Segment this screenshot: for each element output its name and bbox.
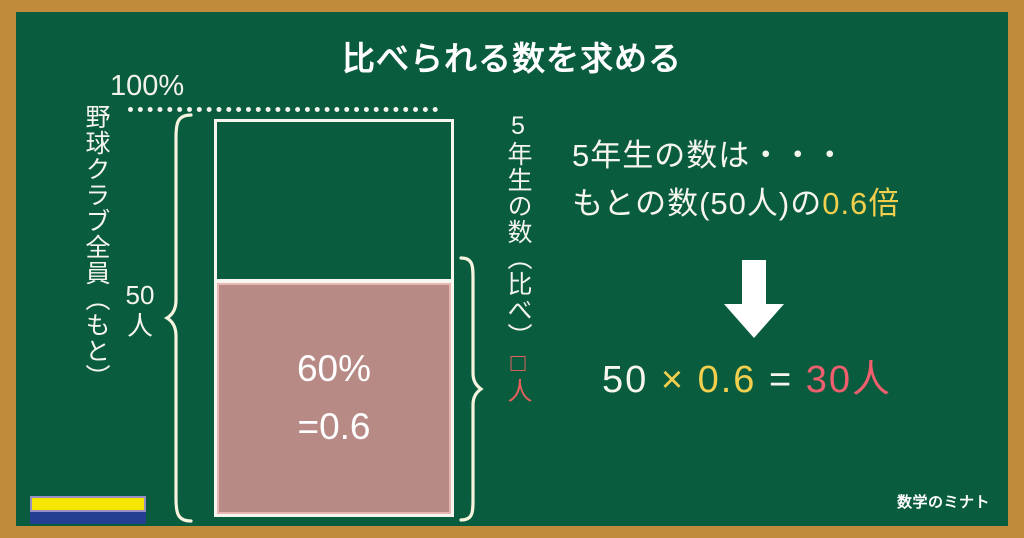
proportion-bar-fill: 60% =0.6 bbox=[217, 279, 451, 514]
watermark: 数学のミナト bbox=[897, 491, 990, 512]
right-brace-icon bbox=[458, 255, 484, 523]
percent-100-label: 100% bbox=[110, 70, 184, 103]
explanation-line-1: 5年生の数は・・・ bbox=[572, 132, 992, 180]
chalkboard-frame: 比べられる数を求める 100% 野球クラブ全員（もと） 50 人 60% =0.… bbox=[0, 0, 1024, 538]
equation: 50 × 0.6 = 30人 bbox=[602, 348, 892, 403]
explanation-panel: 5年生の数は・・・ もとの数(50人)の0.6倍 bbox=[572, 132, 992, 228]
explanation-line-2-prefix: もとの数(50人)の bbox=[572, 186, 822, 221]
right-vertical-caption: 5年生の数（比べ）□人 bbox=[486, 112, 530, 516]
fifty-unit: 人 bbox=[117, 311, 163, 342]
chalk-tray-yellow bbox=[30, 496, 146, 512]
equation-operator: × bbox=[661, 359, 685, 401]
right-caption-known-part: 5年生の数（比べ） bbox=[504, 112, 532, 349]
proportion-bar: 60% =0.6 bbox=[214, 119, 454, 517]
chalkboard: 比べられる数を求める 100% 野球クラブ全員（もと） 50 人 60% =0.… bbox=[16, 12, 1008, 526]
explanation-line-2: もとの数(50人)の0.6倍 bbox=[572, 180, 992, 228]
explanation-line-2-highlight: 0.6倍 bbox=[822, 186, 900, 221]
equation-operand-2: 0.6 bbox=[698, 359, 757, 401]
fifty-people-label: 50 人 bbox=[117, 280, 163, 341]
fifty-amount: 50 bbox=[117, 280, 163, 311]
bar-percent-label: 60% bbox=[297, 348, 371, 390]
right-caption-unknown-part: □人 bbox=[504, 349, 532, 404]
down-arrow-icon bbox=[722, 260, 786, 340]
equation-result: 30人 bbox=[806, 359, 892, 401]
bar-decimal-label: =0.6 bbox=[297, 406, 370, 448]
left-brace-icon bbox=[164, 112, 194, 524]
equation-operand-1: 50 bbox=[602, 359, 648, 401]
equation-equals-sign: = bbox=[769, 359, 793, 401]
left-vertical-caption: 野球クラブ全員（もと） bbox=[64, 104, 108, 516]
